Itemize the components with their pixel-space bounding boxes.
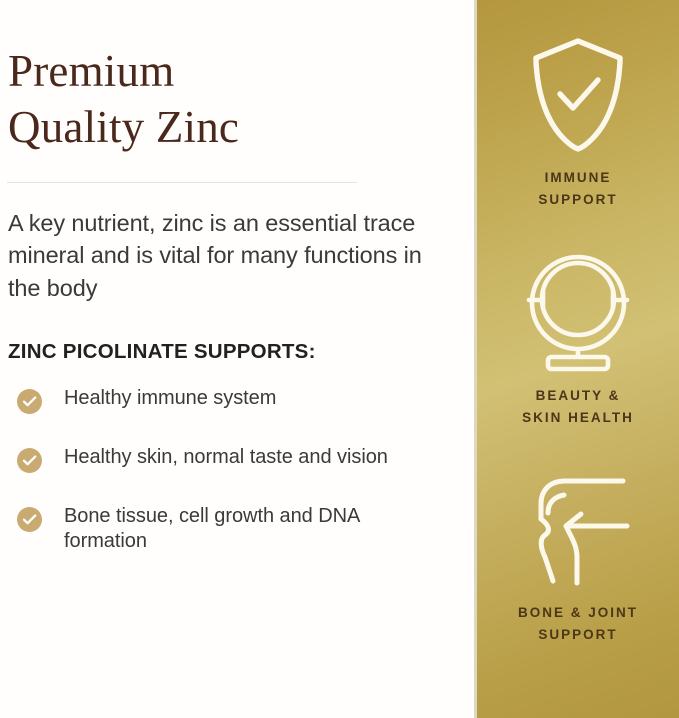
feature-label-line-2: SKIN HEALTH (522, 407, 634, 429)
knee-joint-icon (519, 471, 637, 589)
feature-label-line-1: BEAUTY & (536, 388, 621, 403)
page-title-line-2: Quality Zinc (8, 100, 408, 156)
feature-label-line-2: SUPPORT (538, 189, 617, 211)
left-content-column: Premium Quality Zinc A key nutrient, zin… (0, 0, 474, 718)
shield-check-icon (530, 36, 626, 154)
check-circle-icon (17, 448, 42, 473)
feature-beauty-skin-health: BEAUTY & SKIN HEALTH (477, 250, 679, 430)
page-title-line-1: Premium (8, 46, 174, 96)
list-item-label: Healthy immune system (64, 386, 276, 411)
vanity-mirror-icon (523, 250, 633, 372)
feature-label: BONE & JOINT SUPPORT (518, 602, 638, 647)
supports-heading: ZINC PICOLINATE SUPPORTS: (8, 340, 474, 364)
benefits-list: Healthy immune system Healthy skin, norm… (4, 386, 474, 555)
feature-bone-joint-support: BONE & JOINT SUPPORT (477, 471, 679, 647)
check-circle-icon (17, 507, 42, 532)
list-item: Bone tissue, cell growth and DNA formati… (4, 504, 474, 555)
feature-label: BEAUTY & SKIN HEALTH (522, 385, 634, 430)
feature-label-line-1: BONE & JOINT (518, 605, 638, 620)
list-item-label: Bone tissue, cell growth and DNA formati… (64, 504, 394, 555)
check-circle-icon (17, 389, 42, 414)
product-info-poster: Premium Quality Zinc A key nutrient, zin… (0, 0, 679, 718)
list-item: Healthy skin, normal taste and vision (4, 445, 474, 473)
list-item: Healthy immune system (4, 386, 474, 414)
title-divider (7, 182, 357, 183)
feature-label: IMMUNE SUPPORT (538, 167, 617, 212)
list-item-label: Healthy skin, normal taste and vision (64, 445, 388, 470)
benefits-gold-panel: IMMUNE SUPPORT (474, 0, 679, 718)
feature-label-line-2: SUPPORT (518, 624, 638, 646)
page-title: Premium Quality Zinc (8, 44, 408, 156)
intro-paragraph: A key nutrient, zinc is an essential tra… (8, 207, 460, 305)
feature-immune-support: IMMUNE SUPPORT (477, 36, 679, 212)
feature-label-line-1: IMMUNE (545, 170, 612, 185)
